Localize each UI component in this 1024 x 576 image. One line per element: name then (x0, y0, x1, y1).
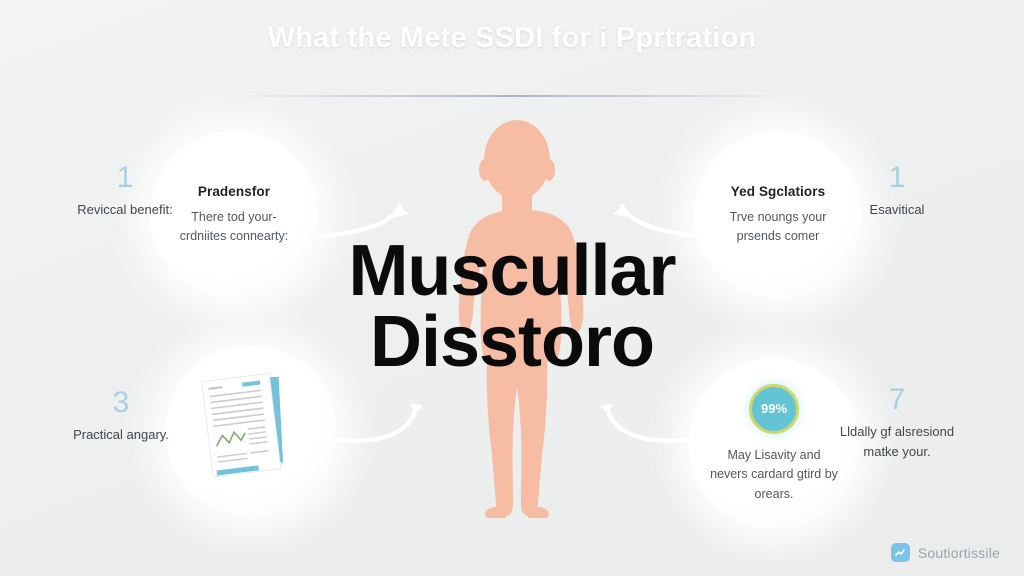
human-body-silhouette-icon (432, 118, 602, 518)
side-note-top-left-number: 1 (66, 163, 184, 193)
bubble-top-left-body: There tod your- crdniites connearty: (172, 208, 296, 247)
side-note-bottom-right-text: Lldally gf alsresiond matke your. (838, 422, 956, 461)
side-note-top-right-text: Esavitical (838, 200, 956, 220)
bubble-top-left-heading: Pradensfor (198, 184, 270, 199)
document-chart-icon (186, 366, 316, 496)
side-note-bottom-left: 3 Practical angary. (62, 388, 180, 445)
human-body-svg (432, 118, 602, 518)
page-title: What the Mete SSDI for i Pprtration (0, 22, 1024, 55)
bubble-bottom-left[interactable] (165, 345, 337, 517)
side-note-top-right-number: 1 (838, 163, 956, 193)
title-divider (248, 95, 776, 97)
bubble-top-right-body: Trve noungs your prsends comer (716, 208, 840, 247)
chart-square-glyph (894, 547, 906, 559)
bubble-top-right-heading: Yed Sgclatiors (731, 184, 825, 199)
side-note-bottom-right-number: 7 (838, 385, 956, 415)
bubble-top-right[interactable]: Yed Sgclatiors Trve noungs your prsends … (694, 131, 862, 299)
bubble-bottom-right[interactable]: 99% May Lisavity and nevers cardard gtir… (688, 358, 860, 530)
footer-logo[interactable]: Soutiortissile (891, 543, 1000, 562)
side-note-top-left-text: Reviccal benefit: (66, 200, 184, 220)
bubble-bottom-left-content (165, 345, 337, 517)
side-note-top-right: 1 Esavitical (838, 163, 956, 220)
side-note-top-left: 1 Reviccal benefit: (66, 163, 184, 220)
footer-logo-text: Soutiortissile (918, 545, 1000, 561)
side-note-bottom-left-number: 3 (62, 388, 180, 418)
bubble-bottom-right-content: 99% May Lisavity and nevers cardard gtir… (688, 358, 860, 530)
side-note-bottom-left-text: Practical angary. (62, 425, 180, 445)
side-note-bottom-right: 7 Lldally gf alsresiond matke your. (838, 385, 956, 461)
status-badge: 99% (749, 384, 799, 434)
bubble-bottom-right-body: May Lisavity and nevers cardard gtird by… (710, 446, 838, 504)
bubble-top-right-content: Yed Sgclatiors Trve noungs your prsends … (694, 131, 862, 299)
infographic-canvas: What the Mete SSDI for i Pprtration (0, 0, 1024, 576)
chart-square-icon (891, 543, 910, 562)
